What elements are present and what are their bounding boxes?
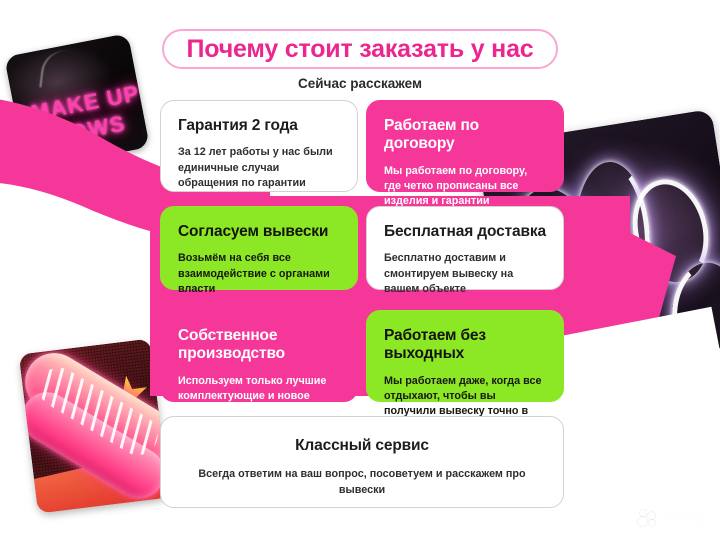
page-subtitle: Сейчас расскажем — [0, 76, 720, 91]
card-body: Всегда ответим на ваш вопрос, посоветуем… — [185, 466, 539, 498]
benefit-card-free-delivery: Бесплатная доставка Бесплатно доставим и… — [366, 206, 564, 290]
card-title: Бесплатная доставка — [384, 223, 546, 241]
avito-wordmark: Avito — [661, 509, 706, 528]
avito-logo-icon — [638, 510, 657, 527]
card-title: Гарантия 2 года — [178, 117, 340, 135]
benefit-card-approval: Согласуем вывески Возьмём на себя все вз… — [160, 206, 358, 290]
benefit-card-own-production: Собственное производство Используем толь… — [160, 310, 358, 402]
card-title: Работаем по договору — [384, 117, 546, 154]
card-body: За 12 лет работы у нас были единичные сл… — [178, 145, 340, 191]
page-title: Почему стоит заказать у нас — [186, 37, 533, 62]
avito-watermark: Avito — [638, 509, 706, 528]
benefit-card-great-service: Классный сервис Всегда ответим на ваш во… — [160, 416, 564, 508]
card-body: Возьмём на себя все взаимодействие с орг… — [178, 251, 340, 297]
benefit-card-guarantee: Гарантия 2 года За 12 лет работы у нас б… — [160, 100, 358, 192]
card-title: Классный сервис — [185, 437, 539, 455]
card-body: Бесплатно доставим и смонтируем вывеску … — [384, 251, 546, 297]
card-title: Работаем без выходных — [384, 327, 546, 364]
page-title-pill: Почему стоит заказать у нас — [162, 29, 558, 69]
card-title: Согласуем вывески — [178, 223, 340, 241]
photo-hotdog-neon-sign — [19, 339, 170, 514]
card-title: Собственное производство — [178, 327, 340, 364]
poster-canvas: MAKE UP BROWS — [0, 0, 720, 540]
benefit-card-no-days-off: Работаем без выходных Мы работаем даже, … — [366, 310, 564, 402]
card-body: Используем только лучшие комплектующие и… — [178, 374, 340, 420]
benefit-card-contract: Работаем по договору Мы работаем по дого… — [366, 100, 564, 192]
card-body: Мы работаем по договору, где четко пропи… — [384, 164, 546, 210]
